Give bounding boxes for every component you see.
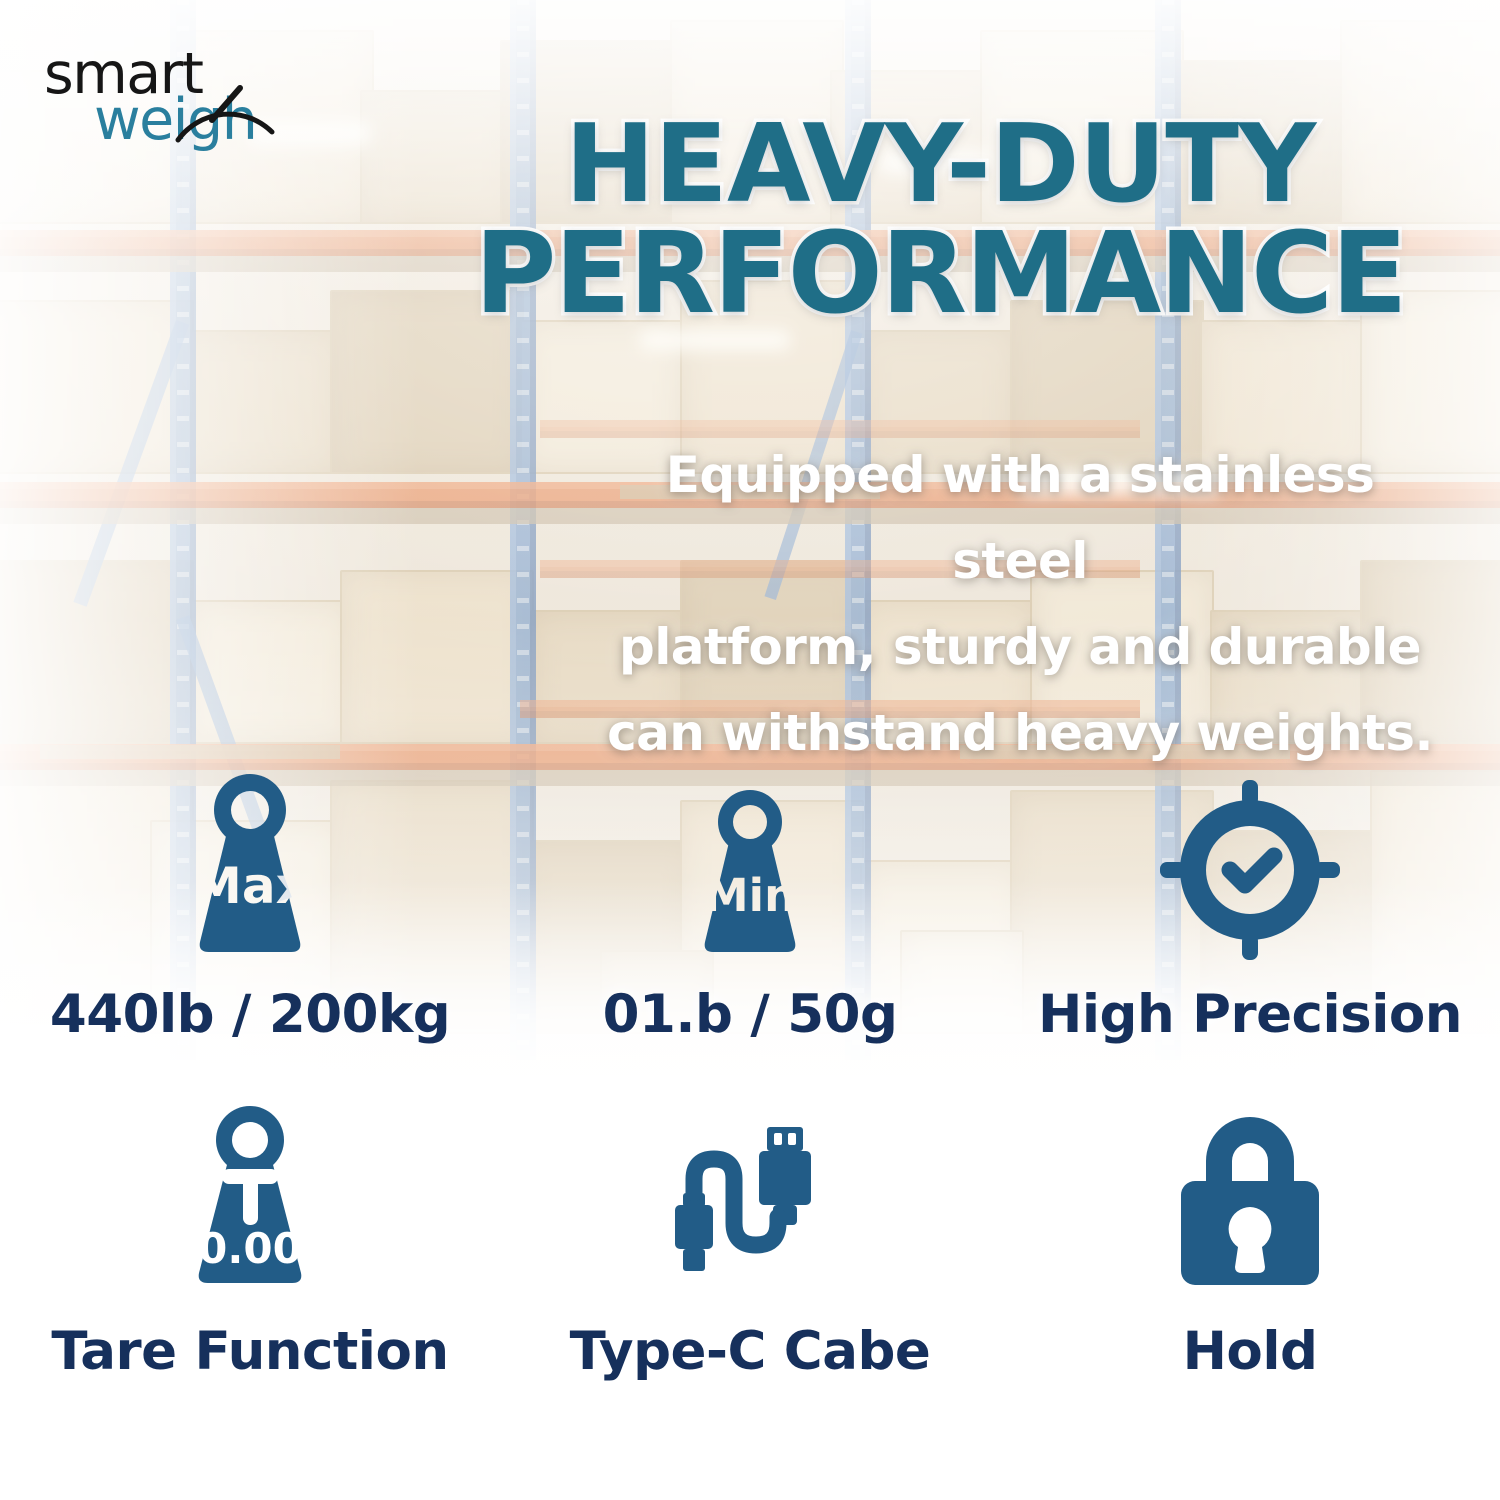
- headline-line-2: PERFORMANCE: [430, 219, 1450, 330]
- infographic-page: smart weigh HEAVY-DUTY PERFORMANCE Equip…: [0, 0, 1500, 1500]
- feature-hold: Hold: [1000, 1095, 1500, 1378]
- feature-min-division: Min 01.b / 50g: [500, 770, 1000, 1041]
- subtitle-line-3: can withstand heavy weights.: [600, 690, 1440, 776]
- feature-row-2: 0.00 Tare Function: [0, 1095, 1500, 1378]
- feature-label-cable: Type-C Cabe: [570, 1325, 931, 1378]
- subtitle-line-1: Equipped with a stainless steel: [600, 432, 1440, 604]
- feature-label-hold: Hold: [1183, 1325, 1318, 1378]
- min-weight-icon: Min: [650, 770, 850, 970]
- subtitle-line-2: platform, sturdy and durable: [600, 604, 1440, 690]
- feature-tare-function: 0.00 Tare Function: [0, 1095, 500, 1378]
- feature-label-min: 01.b / 50g: [603, 988, 898, 1041]
- page-title: HEAVY-DUTY PERFORMANCE: [430, 112, 1450, 330]
- padlock-icon: [1155, 1095, 1345, 1295]
- brand-logo: smart weigh: [44, 44, 304, 149]
- feature-label-tare: Tare Function: [51, 1325, 448, 1378]
- feature-label-precision: High Precision: [1038, 988, 1462, 1041]
- usb-cable-icon: [655, 1095, 845, 1295]
- feature-type-c-cable: Type-C Cabe: [500, 1095, 1000, 1378]
- feature-high-precision: High Precision: [1000, 770, 1500, 1041]
- max-weight-icon: Max: [150, 770, 350, 970]
- feature-max-capacity: Max 440lb / 200kg: [0, 770, 500, 1041]
- feature-row-1: Max 440lb / 200kg: [0, 770, 1500, 1041]
- crosshair-check-icon: [1150, 770, 1350, 970]
- subtitle-paragraph: Equipped with a stainless steel platform…: [600, 432, 1440, 776]
- tare-weight-icon: 0.00: [155, 1095, 345, 1295]
- feature-label-max: 440lb / 200kg: [50, 988, 450, 1041]
- gauge-arc-needle-icon: [172, 48, 282, 144]
